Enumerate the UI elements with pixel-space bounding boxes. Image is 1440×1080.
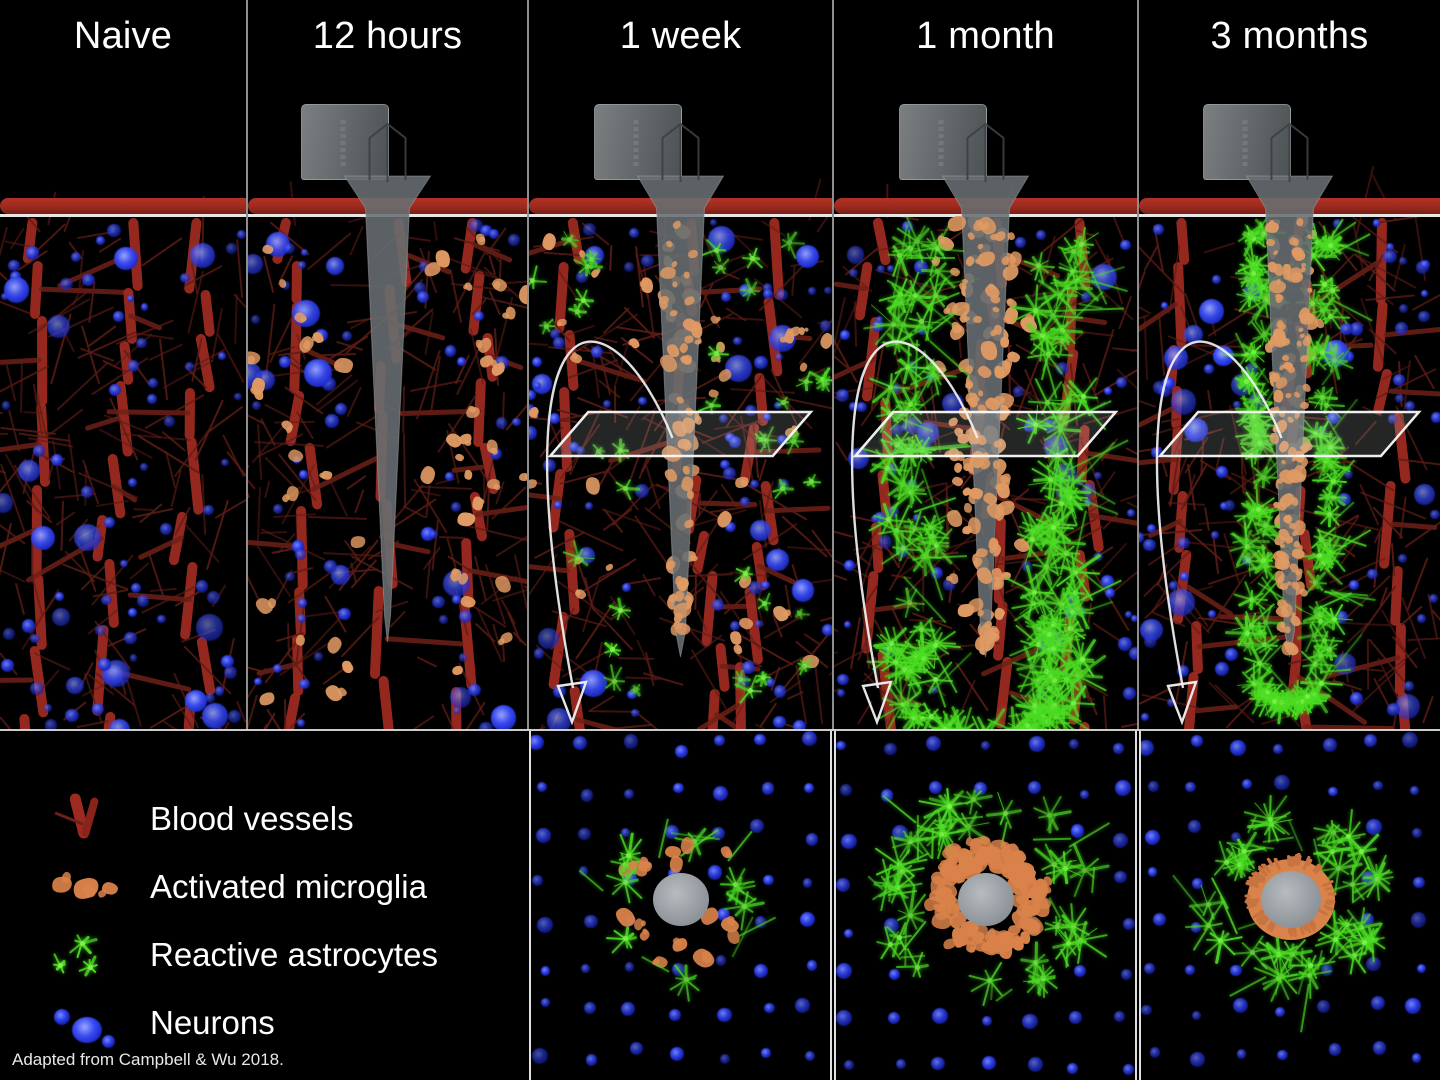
- neuron-cell: [1144, 963, 1155, 974]
- neuron-cell: [754, 734, 765, 745]
- blood-capillary: [61, 501, 65, 551]
- neuron-cell: [1275, 1007, 1285, 1017]
- astrocyte-fibre: [1091, 867, 1095, 893]
- neuron-cell: [96, 236, 105, 245]
- astrocyte-fibre: [1230, 977, 1267, 998]
- neuron-cell: [1373, 781, 1383, 791]
- activated-microglia: [669, 856, 682, 873]
- neuron-cell: [625, 962, 634, 971]
- column-divider-4: [1137, 0, 1139, 730]
- neuron-cell: [140, 463, 148, 471]
- activated-microglia: [965, 528, 970, 534]
- neuron-cell: [1121, 969, 1132, 980]
- neuron-cell: [708, 865, 723, 880]
- column-header-1month: 1 month: [834, 0, 1137, 72]
- electrode-core-cross-section: [653, 873, 709, 926]
- neuron-icon: [72, 1017, 102, 1043]
- column-header-label: 12 hours: [313, 15, 462, 58]
- neuron-cell: [1273, 744, 1283, 754]
- neuron-cell: [624, 734, 638, 748]
- neuron-cell: [573, 736, 587, 750]
- blood-capillary: [88, 325, 117, 347]
- neuron-cell: [1113, 833, 1128, 848]
- blood-vessel-trunk: [19, 714, 33, 730]
- neuron-cell: [807, 960, 818, 971]
- neuron-cell: [1230, 965, 1242, 977]
- neuron-cell: [55, 592, 64, 601]
- column-divider-3: [832, 0, 834, 730]
- activated-microglia: [1296, 340, 1302, 347]
- neuron-cell: [203, 505, 214, 516]
- blood-capillary: [55, 511, 75, 526]
- legend-item-reactive-astrocytes: Reactive astrocytes: [40, 927, 438, 983]
- neuron-cell: [128, 608, 137, 617]
- astrocyte-fibre: [1301, 948, 1303, 966]
- blood-capillary: [67, 433, 79, 500]
- activated-microglia: [978, 391, 983, 397]
- electrode-head: [1203, 104, 1291, 180]
- neuron-cell: [109, 384, 121, 396]
- neuron-cell: [1412, 1053, 1421, 1062]
- neuron-cell: [754, 964, 769, 979]
- neuron-cell: [1139, 740, 1154, 756]
- neuron-cell: [190, 243, 215, 268]
- neuron-cell: [1123, 918, 1136, 931]
- column-divider-2: [527, 0, 529, 730]
- neuron-cell: [218, 352, 226, 360]
- neuron-cell: [141, 303, 149, 311]
- blood-capillary: [134, 508, 154, 511]
- neuron-cell: [586, 1054, 597, 1065]
- legend-label: Blood vessels: [150, 800, 354, 838]
- neuron-cell: [836, 878, 850, 892]
- neuron-cell: [532, 1048, 548, 1064]
- neuron-cell: [1233, 998, 1248, 1013]
- neuron-cell: [1323, 738, 1337, 752]
- neuron-cell: [761, 1048, 771, 1058]
- blood-vessel-trunk: [200, 290, 215, 338]
- neuron-cell: [578, 828, 590, 840]
- astrocyte-fibre: [727, 831, 752, 862]
- neuron-cell: [207, 591, 220, 604]
- neuron-cell: [717, 1008, 731, 1022]
- activated-microglia: [1300, 401, 1309, 409]
- blood-capillary: [23, 411, 43, 414]
- neuron-cell: [1141, 1005, 1152, 1016]
- neuron-cell: [92, 703, 104, 715]
- neuron-cell: [1188, 820, 1201, 833]
- astrocyte-fibre: [1033, 838, 1071, 841]
- blood-capillary: [214, 490, 246, 519]
- blood-capillary: [45, 409, 83, 439]
- legend-label: Reactive astrocytes: [150, 936, 438, 974]
- activated-microglia: [1282, 355, 1289, 361]
- blood-capillary: [0, 716, 20, 730]
- neuron-cell: [982, 1056, 996, 1070]
- neuron-cell: [2, 401, 10, 409]
- neuron-cell: [1242, 779, 1252, 789]
- neuron-cell: [926, 736, 941, 751]
- legend-item-neurons: Neurons: [40, 995, 275, 1051]
- activated-microglia: [1280, 551, 1285, 556]
- activated-microglia-sheath: [988, 538, 998, 551]
- neuron-cell: [841, 834, 857, 850]
- neuron-cell: [929, 781, 942, 794]
- neuron-cell: [215, 686, 225, 696]
- neuron-cell: [581, 964, 590, 973]
- neuron-cell: [1069, 1011, 1082, 1024]
- neuron-cell: [981, 741, 990, 750]
- section-divider: [0, 729, 1440, 731]
- blood-capillary: [234, 294, 238, 344]
- legend-item-activated-microglia: Activated microglia: [40, 859, 427, 915]
- neuron-cell: [221, 459, 228, 466]
- timeline-header-row: Naive12 hours1 week1 month3 months: [0, 0, 1440, 72]
- figure-canvas: Naive12 hours1 week1 month3 months Adapt…: [0, 0, 1440, 1080]
- neuron-cell: [128, 478, 137, 487]
- blood-capillary: [141, 238, 182, 268]
- blood-capillary: [0, 563, 25, 583]
- legend-panel: Adapted from Campbell & Wu 2018. Blood v…: [0, 731, 527, 1080]
- neuron-cell: [803, 878, 813, 888]
- electrode-core-cross-section: [1261, 871, 1321, 928]
- neuron-cell: [60, 278, 72, 290]
- neuron-icon: [102, 1035, 115, 1048]
- activated-microglia-sheath: [1273, 389, 1283, 402]
- neuron-cell: [107, 224, 120, 237]
- neuron-cell: [164, 416, 175, 427]
- neuron-cell: [763, 875, 773, 885]
- astrocyte-fibre: [882, 796, 916, 824]
- neuron-cell: [226, 243, 237, 254]
- neuron-cell: [1148, 781, 1159, 792]
- electrode-probe-12hours[interactable]: [248, 72, 527, 730]
- neuron-cell: [1274, 775, 1289, 790]
- neuron-cell: [805, 1051, 815, 1061]
- neuron-cell: [713, 786, 728, 801]
- blood-capillary: [0, 258, 8, 280]
- neuron-cell: [844, 929, 854, 939]
- neuron-cell: [1277, 1050, 1288, 1061]
- neuron-cell: [1191, 735, 1203, 747]
- tissue-panel-3months: [1139, 72, 1440, 730]
- neuron-cell: [1364, 734, 1377, 747]
- neuron-cell: [669, 1009, 681, 1021]
- cross-section-1week: [529, 731, 832, 1080]
- neuron-cell: [237, 230, 246, 239]
- blood-capillary: [222, 434, 245, 477]
- neuron-cell: [1405, 998, 1421, 1014]
- neuron-cell: [795, 998, 810, 1013]
- neuron-cell: [101, 595, 111, 605]
- blood-capillary: [162, 431, 186, 452]
- neuron-cell: [1417, 964, 1426, 973]
- neuron-cell: [18, 460, 40, 482]
- neuron-cell: [1185, 782, 1195, 792]
- neuron-cell: [670, 1047, 684, 1061]
- tissue-surface-line: [0, 214, 246, 217]
- neuron-cell: [1114, 871, 1127, 884]
- neuron-cell: [840, 784, 852, 796]
- neuron-cell: [47, 315, 70, 338]
- column-header-label: 1 week: [620, 15, 742, 58]
- neuron-cell: [584, 915, 597, 928]
- neuron-cell: [185, 690, 207, 712]
- neuron-cell: [630, 1042, 643, 1055]
- neuron-cell: [806, 833, 818, 845]
- neuron-cell: [30, 682, 44, 696]
- activated-microglia-on-probe: [682, 417, 695, 433]
- blood-capillary: [126, 680, 142, 728]
- neuron-cell: [1329, 1043, 1341, 1055]
- astrocyte-fibre: [1263, 836, 1294, 842]
- neuron-cell: [764, 1003, 775, 1014]
- neuron-cell: [1029, 736, 1045, 752]
- neuron-cell: [234, 393, 242, 401]
- blood-capillary: [236, 239, 243, 298]
- neuron-cell: [228, 710, 241, 723]
- neuron-cell: [1317, 1000, 1330, 1013]
- neuron-cell: [8, 260, 20, 272]
- neuron-cell: [120, 560, 127, 567]
- neuron-cell: [196, 580, 209, 593]
- neuron-cell: [136, 338, 146, 348]
- neuron-cell: [1069, 739, 1079, 749]
- column-header-label: 1 month: [916, 15, 1055, 58]
- blood-capillary: [158, 339, 167, 400]
- neuron-cell: [884, 743, 897, 756]
- neuron-cell: [160, 523, 172, 535]
- column-header-label: 3 months: [1211, 15, 1369, 58]
- neuron-cell: [1402, 732, 1418, 748]
- neuron-cell: [44, 704, 52, 712]
- neuron-cell: [1411, 912, 1427, 928]
- neuron-cell: [532, 875, 543, 886]
- neuron-cell: [800, 912, 815, 927]
- neuron-cell: [1237, 1049, 1247, 1059]
- neuron-cell: [1153, 913, 1166, 926]
- activated-microglia-sheath: [1275, 570, 1285, 583]
- neuron-cell: [932, 1008, 948, 1024]
- neuron-cell: [52, 608, 70, 626]
- neuron-cell: [931, 1057, 945, 1071]
- legend-label: Neurons: [150, 1004, 275, 1042]
- neuron-cell: [65, 709, 78, 722]
- neuron-cell: [196, 614, 223, 641]
- neuron-cell: [836, 963, 852, 979]
- activated-microglia: [640, 920, 646, 927]
- microglia-process: [1328, 892, 1337, 895]
- neuron-cell: [1148, 867, 1158, 877]
- neuron-cell: [1413, 877, 1424, 888]
- blood-capillary: [20, 359, 23, 413]
- blood-vessel-branch: [0, 678, 34, 684]
- blood-capillary: [0, 227, 8, 270]
- neuron-cell: [1022, 1014, 1037, 1029]
- cross-section-3months: [1139, 731, 1440, 1080]
- neuron-cell: [31, 526, 55, 550]
- neuron-cell: [1067, 1063, 1078, 1074]
- astrocyte-fibre: [931, 828, 933, 859]
- astrocyte-fibre: [579, 870, 603, 891]
- neuron-cell: [1028, 1057, 1043, 1072]
- tissue-panel-12hours: [248, 72, 527, 730]
- surface-blood-vessel: [0, 198, 246, 214]
- neuron-cell: [1192, 1011, 1201, 1020]
- neuron-cell: [1071, 824, 1084, 837]
- neuron-cell: [1410, 786, 1419, 795]
- legend-icon-blood-vessels: [40, 791, 150, 847]
- neuron-cell: [802, 731, 817, 746]
- neuron-cell: [3, 628, 15, 640]
- neuron-cell: [714, 735, 725, 746]
- blood-capillary: [149, 343, 183, 361]
- column-header-label: Naive: [74, 15, 172, 58]
- neuron-cell: [1115, 780, 1131, 796]
- neuron-cell: [137, 595, 149, 607]
- neuron-cell: [675, 745, 688, 758]
- neuron-cell: [1230, 740, 1246, 756]
- neuron-cell: [1145, 830, 1160, 845]
- neuron-cell: [836, 1010, 852, 1026]
- neuron-cell: [4, 277, 29, 302]
- neuron-cell: [889, 969, 900, 980]
- neuron-cell: [147, 394, 157, 404]
- column-divider-1: [246, 0, 248, 730]
- neuron-cell: [1366, 819, 1382, 835]
- neuron-cell: [536, 828, 551, 843]
- column-header-12hours: 12 hours: [248, 0, 527, 72]
- activated-microglia: [1280, 543, 1286, 548]
- astrocyte-fibre: [904, 928, 906, 966]
- neuron-cell: [202, 703, 228, 729]
- neuron-cell: [1412, 828, 1422, 838]
- neuron-cell: [836, 741, 845, 750]
- neuron-cell: [1123, 1064, 1135, 1076]
- neuron-cell: [982, 1016, 992, 1026]
- neuron-cell: [896, 1059, 907, 1070]
- neuron-cell: [1328, 787, 1338, 797]
- neuron-cell: [82, 274, 95, 287]
- neuron-cell: [51, 454, 63, 466]
- neuron-cell: [1074, 965, 1086, 977]
- neuron-cell: [221, 655, 234, 668]
- tissue-background: [0, 72, 246, 730]
- astrocyte-fibre: [1300, 984, 1310, 1033]
- blood-capillary: [150, 588, 177, 592]
- neuron-cell: [1190, 1052, 1205, 1067]
- neuron-cell: [124, 632, 136, 644]
- legend-label: Activated microglia: [150, 868, 427, 906]
- neuron-cell: [537, 782, 548, 793]
- column-header-1week: 1 week: [529, 0, 832, 72]
- neuron-cell: [537, 917, 553, 933]
- neuron-cell: [1028, 781, 1041, 794]
- neuron-cell: [581, 789, 594, 802]
- neuron-cell: [148, 378, 158, 388]
- legend-icon-activated-microglia: [40, 859, 150, 915]
- neuron-cell: [1373, 1041, 1386, 1054]
- blood-capillary: [129, 562, 149, 580]
- tissue-panel-naive: [0, 72, 246, 730]
- neuron-cell: [81, 486, 93, 498]
- activated-microglia: [1272, 427, 1277, 433]
- activated-microglia-sheath: [999, 336, 1009, 348]
- neuron-cell: [762, 782, 774, 794]
- neuron-cell: [30, 634, 40, 644]
- tissue-panel-1month: [834, 72, 1137, 730]
- blood-capillary: [0, 412, 3, 416]
- neuron-cell: [1185, 965, 1195, 975]
- neuron-cell: [1114, 1011, 1125, 1022]
- neuron-cell: [26, 246, 39, 259]
- neuron-cell: [185, 362, 193, 370]
- neuron-cell: [1150, 1047, 1160, 1057]
- neuron-cell: [1113, 743, 1124, 754]
- blood-capillary: [0, 433, 8, 435]
- neuron-cell: [1371, 996, 1385, 1010]
- tissue-panel-1week: [529, 72, 832, 730]
- neuron-cell: [716, 955, 727, 966]
- neuron-cell: [584, 1002, 596, 1014]
- neuron-cell: [529, 735, 544, 751]
- neuron-icon: [54, 1009, 70, 1025]
- neuron-cell: [113, 311, 124, 322]
- legend-icon-neurons: [40, 995, 150, 1051]
- neuron-cell: [130, 654, 138, 662]
- credit-text: Adapted from Campbell & Wu 2018.: [12, 1050, 284, 1070]
- neuron-cell: [888, 1012, 900, 1024]
- neuron-cell: [621, 1002, 635, 1016]
- blood-capillary: [15, 583, 25, 615]
- neuron-cell: [720, 1054, 730, 1064]
- neuron-cell: [33, 445, 45, 457]
- neuron-cell: [128, 360, 140, 372]
- microglia-process: [1244, 894, 1250, 897]
- neuron-cell: [98, 658, 111, 671]
- electrode-core-cross-section: [958, 873, 1014, 926]
- column-header-3months: 3 months: [1139, 0, 1440, 72]
- neuron-cell: [157, 615, 166, 624]
- electrode-head: [301, 104, 389, 180]
- neuron-cell: [1080, 790, 1089, 799]
- activated-microglia: [964, 490, 969, 494]
- neuron-cell: [844, 1060, 854, 1070]
- legend-icon-reactive-astrocytes: [40, 927, 150, 983]
- electrode-head: [899, 104, 987, 180]
- legend-item-blood-vessels: Blood vessels: [40, 791, 354, 847]
- neuron-cell: [104, 517, 115, 528]
- neuron-cell: [541, 998, 550, 1007]
- astrocyte-fibre: [1289, 819, 1304, 851]
- neuron-cell: [804, 783, 814, 793]
- neuron-cell: [131, 583, 141, 593]
- neuron-cell: [541, 966, 551, 976]
- neuron-cell: [624, 789, 634, 799]
- neuron-cell: [673, 783, 684, 794]
- column-header-naive: Naive: [0, 0, 246, 72]
- activated-microglia-on-probe: [682, 476, 694, 491]
- neuron-cell: [114, 247, 138, 271]
- cross-section-1month: [834, 731, 1137, 1080]
- electrode-head: [594, 104, 682, 180]
- neuron-cell: [66, 677, 84, 695]
- neuron-cell: [71, 252, 81, 262]
